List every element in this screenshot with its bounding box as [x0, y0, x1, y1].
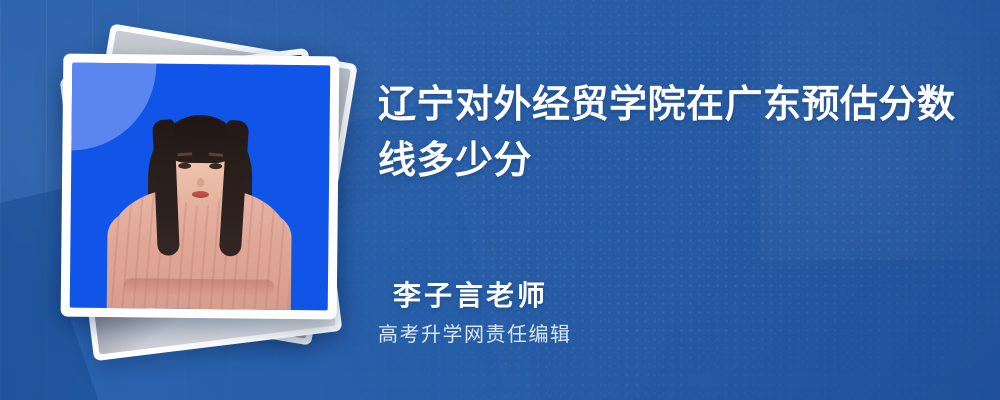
portrait-dress-waistband	[124, 278, 274, 296]
article-cover-banner: 辽宁对外经贸学院在广东预估分数线多少分 李子言老师 高考升学网责任编辑	[0, 0, 1000, 400]
portrait-figure	[70, 63, 331, 311]
photo-card-front	[61, 54, 340, 320]
cover-text-block: 辽宁对外经贸学院在广东预估分数线多少分 李子言老师 高考升学网责任编辑	[378, 0, 982, 400]
author-role: 高考升学网责任编辑	[378, 318, 572, 347]
photo-card-stack	[50, 36, 350, 366]
portrait-photo	[70, 63, 331, 311]
portrait-nose	[196, 178, 203, 187]
page-title: 辽宁对外经贸学院在广东预估分数线多少分	[378, 78, 982, 190]
author-name: 李子言老师	[393, 274, 548, 314]
